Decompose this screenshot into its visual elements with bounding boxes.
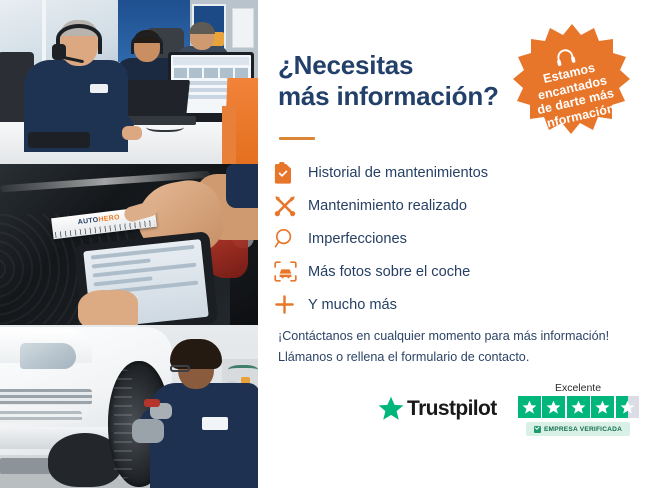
screen-thumbnail bbox=[174, 68, 187, 78]
mechanic-logo-badge bbox=[202, 417, 228, 430]
trustpilot-rating-label: Excelente bbox=[516, 382, 640, 394]
car-inspection-ruler-photo: AUTOHERO bbox=[0, 164, 258, 325]
inspector-sleeve bbox=[226, 164, 258, 208]
contact-line-2: Llámanos o rellena el formulario de cont… bbox=[278, 347, 638, 368]
star-filled bbox=[567, 396, 590, 418]
title-divider bbox=[279, 137, 315, 140]
check-icon bbox=[534, 426, 541, 433]
trustpilot-logo[interactable]: Trustpilot bbox=[378, 396, 497, 421]
trustpilot-stars bbox=[516, 396, 640, 418]
screen-thumbnail bbox=[204, 68, 217, 78]
contact-line-1: ¡Contáctanos en cualquier momento para m… bbox=[278, 326, 638, 347]
list-item-label: Más fotos sobre el coche bbox=[308, 264, 470, 280]
screen-thumbnail bbox=[220, 68, 233, 78]
list-item: Imperfecciones bbox=[274, 222, 634, 255]
car-grille bbox=[0, 389, 92, 405]
list-item: Más fotos sobre el coche bbox=[274, 255, 634, 288]
tablet-on-desk bbox=[28, 132, 90, 148]
list-item: Historial de mantenimientos bbox=[274, 156, 634, 189]
tools-cross-icon bbox=[274, 193, 308, 219]
agent-one-logo-badge bbox=[90, 84, 108, 93]
screen-thumbnail bbox=[235, 68, 248, 78]
agent-one-hand bbox=[122, 126, 142, 140]
car-scan-icon bbox=[274, 259, 308, 285]
list-item-label: Imperfecciones bbox=[308, 231, 407, 247]
tire-tread bbox=[114, 369, 132, 479]
brand-text-hero: HERO bbox=[98, 214, 120, 224]
screen-thumbnail-row bbox=[174, 68, 248, 78]
mechanic bbox=[140, 333, 258, 488]
clipboard-check-icon bbox=[274, 160, 308, 186]
verified-badge-label: EMPRESA VERIFICADA bbox=[544, 426, 622, 433]
tablet-text-line bbox=[91, 245, 195, 260]
hand-tool bbox=[144, 399, 160, 407]
page-title-line-1: ¿Necesitas bbox=[278, 50, 528, 81]
support-badge: Estamos encantados de darte más informac… bbox=[506, 20, 638, 152]
support-badge-text: Estamos encantados de darte más informac… bbox=[513, 54, 635, 136]
star-filled bbox=[591, 396, 614, 418]
trustpilot-rating: Excelente bbox=[516, 382, 640, 436]
screen-toolbar bbox=[173, 57, 249, 65]
page-title-line-2: más información? bbox=[278, 81, 528, 112]
star-filled bbox=[542, 396, 565, 418]
headset-icon bbox=[131, 33, 163, 54]
list-item: Mantenimiento realizado bbox=[274, 189, 634, 222]
star-partial bbox=[616, 396, 639, 418]
screen-thumbnail bbox=[189, 68, 202, 78]
car-headlight bbox=[20, 343, 76, 369]
car-lower-grille bbox=[0, 411, 82, 423]
brand-text-auto: AUTO bbox=[77, 217, 99, 226]
promo-banner: AUTOHERO bbox=[0, 0, 650, 488]
verified-badge: EMPRESA VERIFICADA bbox=[526, 422, 630, 436]
list-item-label: Mantenimiento realizado bbox=[308, 198, 467, 214]
list-item: Y mucho más bbox=[274, 288, 634, 321]
safety-glasses-icon bbox=[170, 365, 190, 372]
trustpilot-wordmark: Trustpilot bbox=[407, 397, 497, 421]
photo-column: AUTOHERO bbox=[0, 0, 258, 488]
inspector-second-hand bbox=[78, 290, 138, 325]
agent-three-hair bbox=[189, 22, 215, 34]
list-item-label: Y mucho más bbox=[308, 297, 397, 313]
list-item-label: Historial de mantenimientos bbox=[308, 165, 488, 181]
tablet-text-line bbox=[94, 276, 153, 286]
plus-icon bbox=[274, 292, 308, 318]
wall-poster-secondary bbox=[232, 8, 254, 48]
tablet-text-line bbox=[92, 258, 151, 268]
call-center-agents-photo bbox=[0, 0, 258, 164]
mechanic-glove bbox=[132, 419, 164, 443]
magnifier-icon bbox=[274, 226, 308, 252]
feature-list: Historial de mantenimientos M bbox=[274, 156, 634, 321]
content-panel: ¿Necesitas más información? Estamos enca… bbox=[258, 0, 650, 488]
star-filled bbox=[518, 396, 541, 418]
cable bbox=[146, 120, 184, 132]
contact-text: ¡Contáctanos en cualquier momento para m… bbox=[278, 326, 638, 368]
trustpilot-star-icon bbox=[378, 396, 404, 421]
mechanic-wheel-photo bbox=[0, 325, 258, 488]
orange-equipment-bar bbox=[222, 106, 236, 164]
trustpilot-block: Trustpilot Excelente bbox=[378, 382, 640, 448]
page-title: ¿Necesitas más información? bbox=[278, 50, 528, 111]
